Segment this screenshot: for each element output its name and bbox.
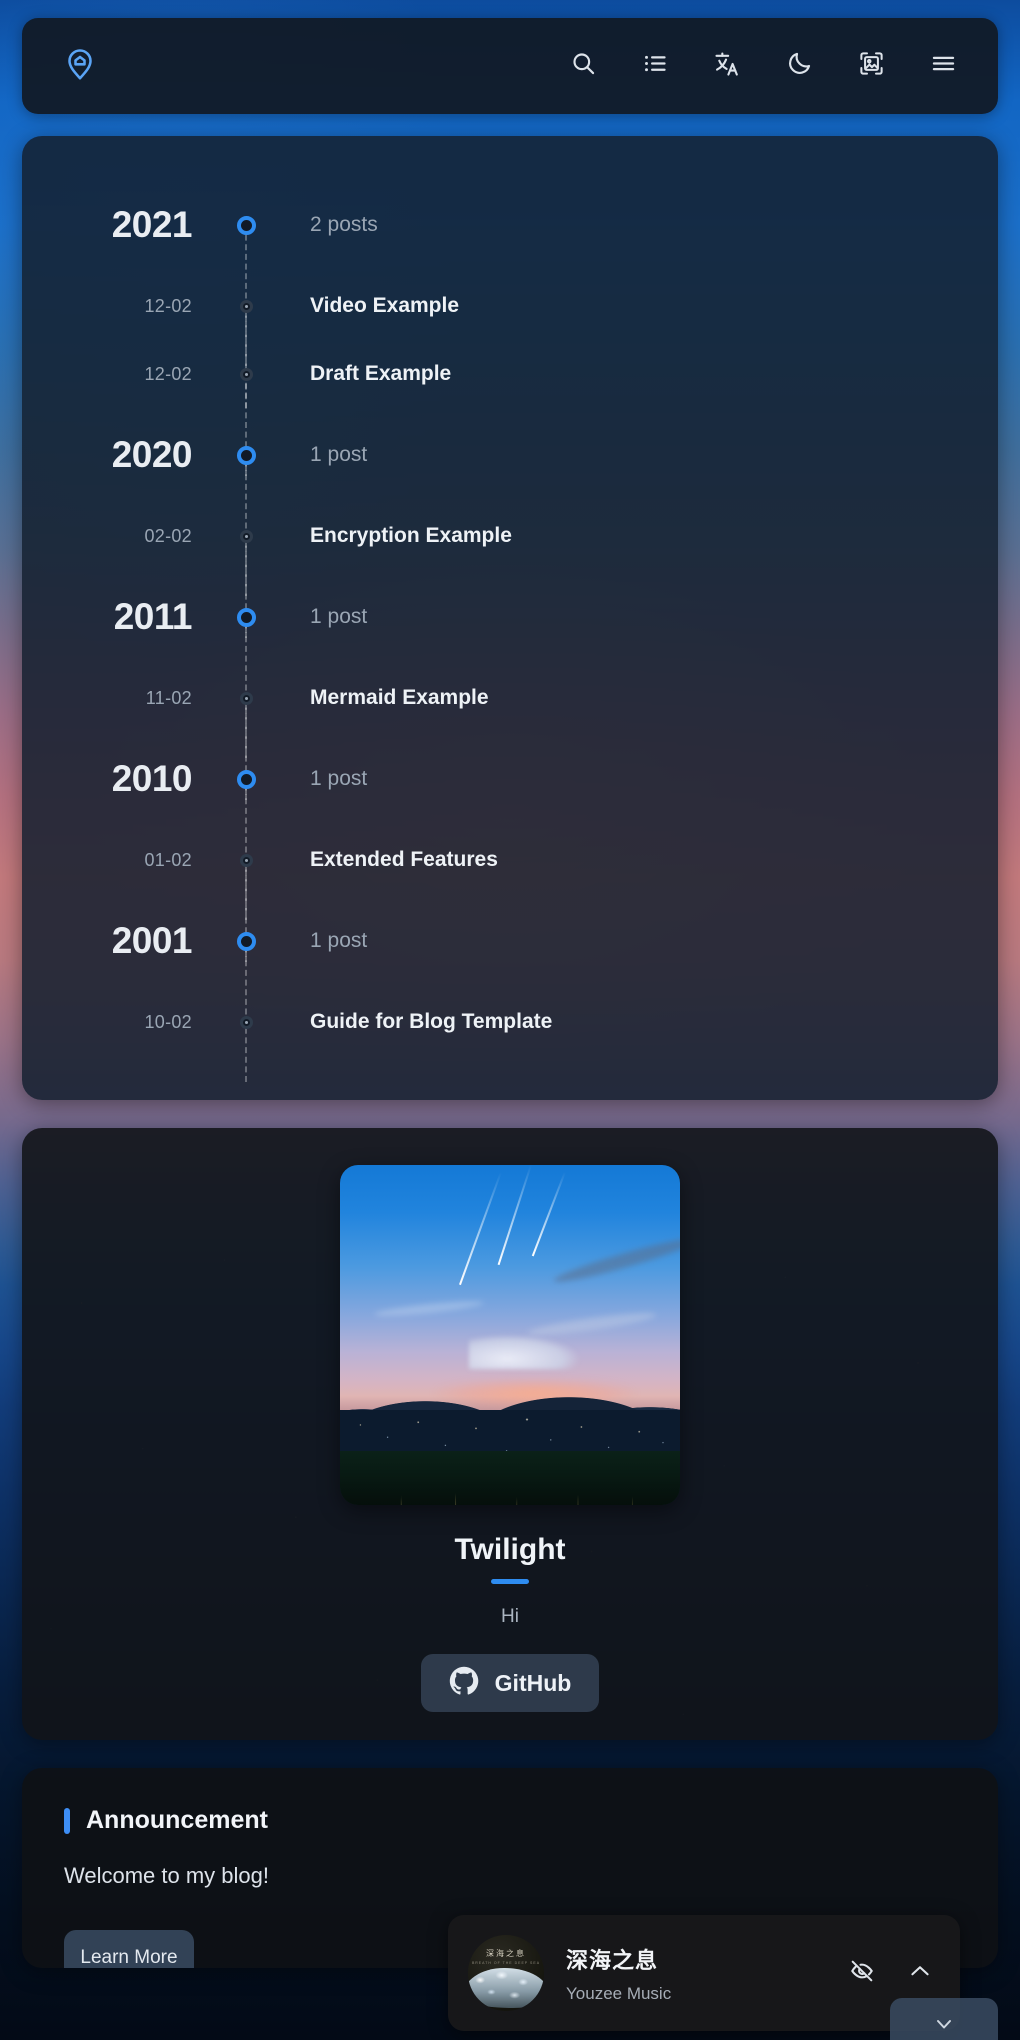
announcement-header: Announcement bbox=[64, 1806, 956, 1835]
timeline-year-dot bbox=[237, 770, 256, 789]
profile-card: Twilight Hi GitHub bbox=[22, 1128, 998, 1740]
timeline-axis bbox=[218, 732, 274, 826]
avatar-cumulus-cloud bbox=[469, 1335, 579, 1369]
timeline-post-dot bbox=[240, 530, 253, 543]
chevron-down-icon bbox=[932, 2012, 956, 2040]
hamburger-menu-icon bbox=[930, 50, 957, 82]
timeline-post-row[interactable]: 12-02 Video Example bbox=[22, 272, 998, 340]
timeline-post-date: 12-02 bbox=[22, 296, 218, 317]
music-player[interactable]: 深海之息 BREATH OF THE DEEP SEA 深海之息 Youzee … bbox=[448, 1915, 960, 2031]
timeline-post-dot bbox=[240, 300, 253, 313]
timeline-axis bbox=[218, 340, 274, 408]
github-link-button[interactable]: GitHub bbox=[421, 1654, 600, 1712]
timeline-year-dot bbox=[237, 608, 256, 627]
toc-button[interactable] bbox=[638, 49, 672, 83]
timeline-post-date: 10-02 bbox=[22, 1012, 218, 1033]
album-art[interactable]: 深海之息 BREATH OF THE DEEP SEA bbox=[468, 1935, 544, 2011]
timeline-post-dot bbox=[240, 1016, 253, 1029]
timeline-year-row[interactable]: 2021 2 posts bbox=[22, 178, 998, 272]
timeline-post-title[interactable]: Encryption Example bbox=[274, 524, 998, 548]
moon-icon bbox=[786, 50, 813, 82]
timeline-year-row[interactable]: 2011 1 post bbox=[22, 570, 998, 664]
timeline-year-label: 2020 bbox=[22, 434, 218, 476]
track-meta: 深海之息 Youzee Music bbox=[566, 1943, 848, 2004]
album-cover-title: 深海之息 bbox=[468, 1948, 544, 1959]
timeline-year-dot bbox=[237, 216, 256, 235]
expand-player-button[interactable] bbox=[906, 1959, 934, 1987]
profile-bio: Hi bbox=[501, 1606, 519, 1628]
timeline-year-dot bbox=[237, 932, 256, 951]
timeline-axis bbox=[218, 664, 274, 732]
navbar-actions bbox=[566, 49, 960, 83]
timeline-year-row[interactable]: 2010 1 post bbox=[22, 732, 998, 826]
avatar[interactable] bbox=[340, 1165, 680, 1505]
search-button[interactable] bbox=[566, 49, 600, 83]
timeline-post-title[interactable]: Extended Features bbox=[274, 848, 998, 872]
timeline-post-date: 01-02 bbox=[22, 850, 218, 871]
timeline-axis bbox=[218, 894, 274, 988]
timeline-post-date: 12-02 bbox=[22, 364, 218, 385]
map-pin-home-icon bbox=[62, 46, 98, 87]
timeline-post-row[interactable]: 12-02 Draft Example bbox=[22, 340, 998, 408]
menu-button[interactable] bbox=[926, 49, 960, 83]
timeline-post-count: 1 post bbox=[274, 929, 998, 953]
chevron-up-icon bbox=[907, 1958, 933, 1989]
learn-more-button[interactable]: Learn More bbox=[64, 1930, 194, 1968]
profile-name-underline bbox=[491, 1579, 529, 1584]
timeline-axis bbox=[218, 408, 274, 502]
timeline-post-dot bbox=[240, 854, 253, 867]
timeline-axis bbox=[218, 502, 274, 570]
timeline-post-count: 2 posts bbox=[274, 213, 998, 237]
github-link-label: GitHub bbox=[495, 1670, 572, 1697]
timeline-post-count: 1 post bbox=[274, 443, 998, 467]
bottom-right-widget[interactable] bbox=[890, 1998, 998, 2040]
timeline-post-row[interactable]: 02-02 Encryption Example bbox=[22, 502, 998, 570]
timeline-post-title[interactable]: Draft Example bbox=[274, 362, 998, 386]
timeline-axis bbox=[218, 988, 274, 1056]
timeline-year-row[interactable]: 2020 1 post bbox=[22, 408, 998, 502]
player-actions bbox=[848, 1959, 934, 1987]
timeline-post-title[interactable]: Mermaid Example bbox=[274, 686, 998, 710]
timeline-year-row[interactable]: 2001 1 post bbox=[22, 894, 998, 988]
timeline-year-dot bbox=[237, 446, 256, 465]
translate-icon bbox=[713, 50, 741, 83]
timeline-post-dot bbox=[240, 368, 253, 381]
github-icon bbox=[449, 1666, 479, 1701]
announcement-title: Announcement bbox=[86, 1806, 268, 1835]
timeline-post-dot bbox=[240, 692, 253, 705]
timeline-post-count: 1 post bbox=[274, 605, 998, 629]
announcement-body: Welcome to my blog! bbox=[64, 1863, 956, 1889]
track-artist: Youzee Music bbox=[566, 1984, 848, 2004]
timeline-axis bbox=[218, 570, 274, 664]
timeline-post-row[interactable]: 01-02 Extended Features bbox=[22, 826, 998, 894]
timeline-post-row[interactable]: 11-02 Mermaid Example bbox=[22, 664, 998, 732]
timeline-post-title[interactable]: Video Example bbox=[274, 294, 998, 318]
eye-off-icon bbox=[849, 1958, 875, 1989]
timeline-axis bbox=[218, 826, 274, 894]
announcement-accent-bar bbox=[64, 1808, 70, 1834]
timeline-year-label: 2010 bbox=[22, 758, 218, 800]
avatar-grass bbox=[340, 1457, 680, 1505]
profile-name: Twilight bbox=[454, 1533, 565, 1567]
archive-timeline-card: 2021 2 posts 12-02 Video Example 12-02 D… bbox=[22, 136, 998, 1100]
timeline-year-label: 2001 bbox=[22, 920, 218, 962]
hide-lyrics-button[interactable] bbox=[848, 1959, 876, 1987]
timeline-year-label: 2011 bbox=[22, 596, 218, 638]
album-cover-subtitle: BREATH OF THE DEEP SEA bbox=[468, 1961, 544, 1965]
navbar bbox=[22, 18, 998, 114]
timeline-post-title[interactable]: Guide for Blog Template bbox=[274, 1010, 998, 1034]
search-icon bbox=[570, 50, 597, 82]
timeline-post-count: 1 post bbox=[274, 767, 998, 791]
track-title: 深海之息 bbox=[566, 1943, 848, 1975]
dark-mode-button[interactable] bbox=[782, 49, 816, 83]
timeline-axis bbox=[218, 272, 274, 340]
timeline-axis bbox=[218, 178, 274, 272]
timeline-post-row[interactable]: 10-02 Guide for Blog Template bbox=[22, 988, 998, 1056]
timeline-year-label: 2021 bbox=[22, 204, 218, 246]
toc-list-icon bbox=[642, 50, 669, 82]
timeline-post-date: 11-02 bbox=[22, 688, 218, 709]
wallpaper-toggle-button[interactable] bbox=[854, 49, 888, 83]
translate-button[interactable] bbox=[710, 49, 744, 83]
image-toggle-icon bbox=[858, 50, 885, 82]
timeline-post-date: 02-02 bbox=[22, 526, 218, 547]
album-foam-artwork bbox=[468, 1968, 544, 2008]
page-root: 2021 2 posts 12-02 Video Example 12-02 D… bbox=[0, 0, 1020, 2040]
site-logo-button[interactable] bbox=[60, 46, 100, 86]
